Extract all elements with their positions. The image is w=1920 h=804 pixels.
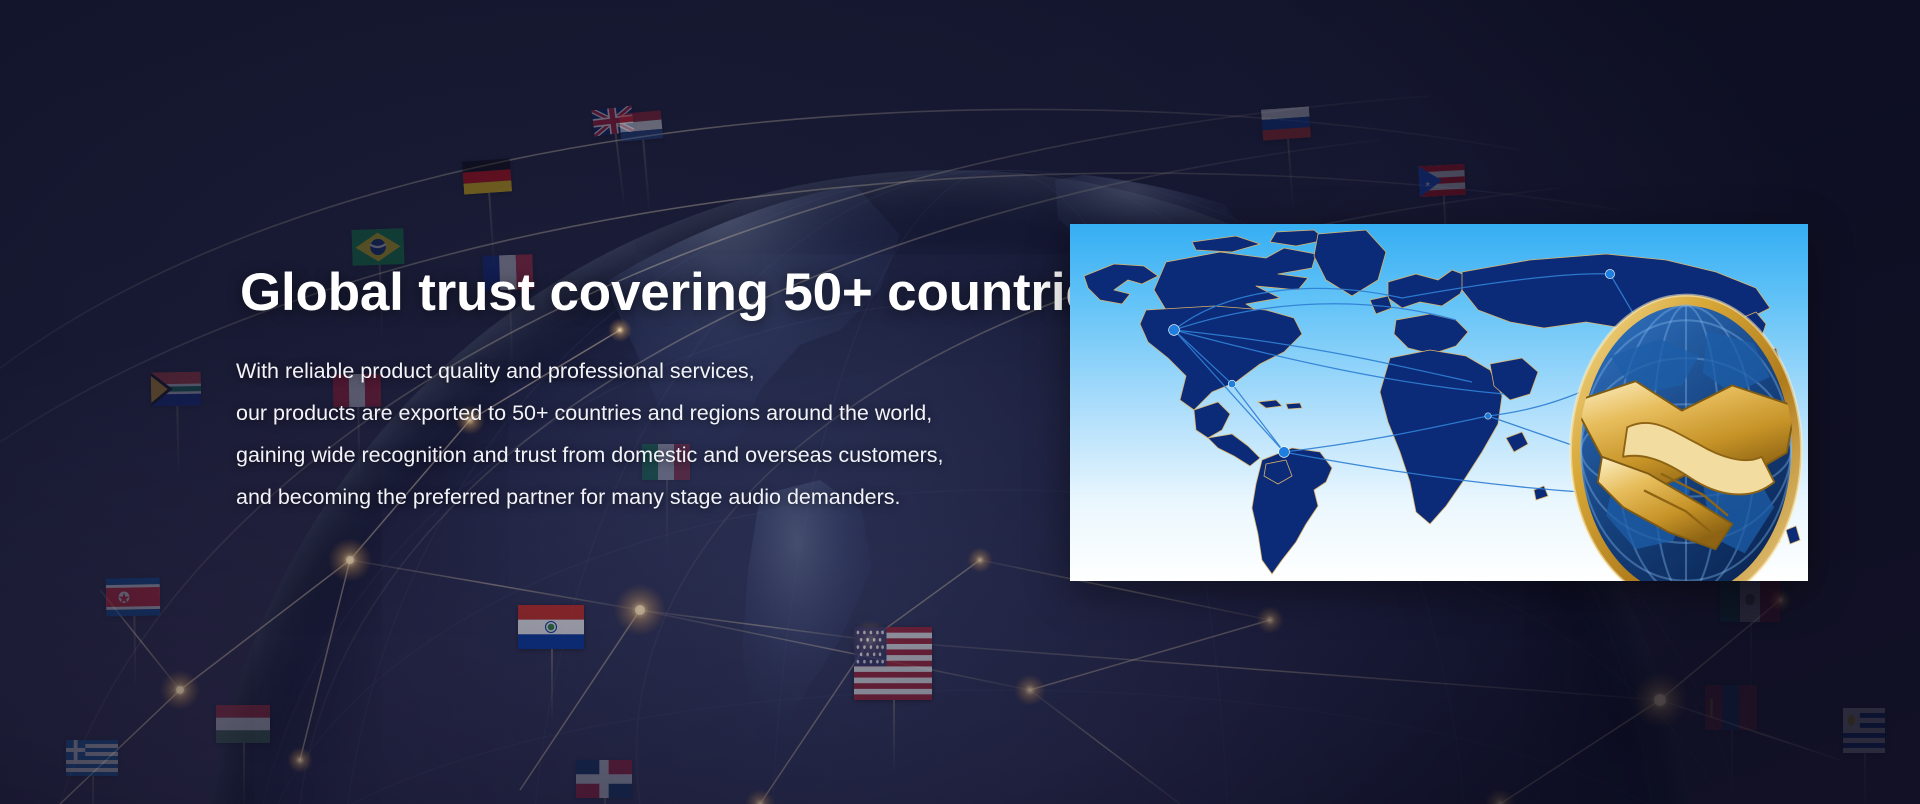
map-node	[1485, 413, 1491, 419]
description-line: and becoming the preferred partner for m…	[236, 476, 1060, 518]
description-line: gaining wide recognition and trust from …	[236, 434, 1060, 476]
hero-copy-block: Global trust covering 50+ countries With…	[240, 262, 1060, 518]
global-trust-hero-banner: Global trust covering 50+ countries With…	[0, 0, 1920, 804]
map-node	[1605, 269, 1614, 278]
map-node	[1169, 325, 1180, 336]
description-line: With reliable product quality and profes…	[236, 350, 1060, 392]
description-line: our products are exported to 50+ countri…	[236, 392, 1060, 434]
page-title: Global trust covering 50+ countries	[240, 262, 1060, 324]
map-node	[1731, 491, 1742, 502]
map-node	[1228, 380, 1236, 388]
world-map-image	[1070, 224, 1808, 581]
map-node	[1706, 320, 1714, 328]
hero-description: With reliable product quality and profes…	[236, 350, 1060, 518]
map-node	[1651, 347, 1661, 357]
world-map-svg	[1070, 224, 1808, 581]
map-node	[1279, 447, 1290, 458]
